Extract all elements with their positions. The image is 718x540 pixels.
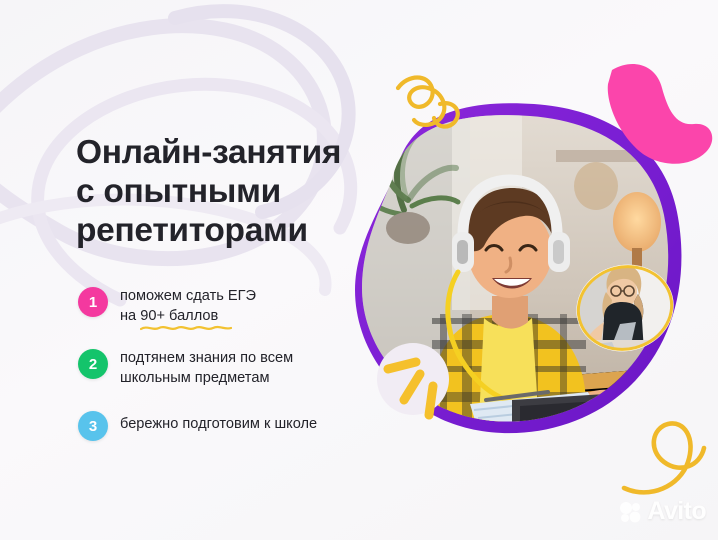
bullet-number-badge-3: 3 xyxy=(78,411,108,441)
bullet-number-badge-1: 1 xyxy=(78,287,108,317)
tutor-inset-photo xyxy=(567,254,683,361)
bullet-1-line-1: поможем сдать ЕГЭ xyxy=(120,287,398,307)
highlighted-score: 90+ баллов xyxy=(140,307,218,327)
avito-wordmark: Avito xyxy=(647,497,706,526)
wavy-underline-icon xyxy=(140,325,232,331)
bullet-2-line-2: школьным предметам xyxy=(120,369,398,389)
foreground-decorations xyxy=(0,0,718,540)
page-title: Онлайн-занятия с опытными репетиторами xyxy=(76,133,376,250)
lamp xyxy=(613,192,661,272)
bullet-text-1: поможем сдать ЕГЭ на 90+ баллов xyxy=(120,285,398,326)
highlight-text: 90+ баллов xyxy=(140,308,218,324)
boy-figure xyxy=(432,180,650,442)
headline-line-2: с опытными xyxy=(76,172,376,211)
bullet-1-line-2: на 90+ баллов xyxy=(120,307,398,327)
yellow-squiggle-top xyxy=(398,78,458,127)
bullet-text-3: бережно подготовим к школе xyxy=(120,409,398,435)
list-item: 2 подтянем знания по всем школьным предм… xyxy=(78,347,398,393)
headline-line-3: репетиторами xyxy=(76,211,376,250)
student-photo xyxy=(0,0,718,540)
bullet-3-line-1: бережно подготовим к школе xyxy=(120,415,398,435)
yellow-curl-bottom xyxy=(624,423,704,492)
background-swirls xyxy=(0,0,718,540)
bullet-2-line-1: подтянем знания по всем xyxy=(120,349,398,369)
benefits-list: 1 поможем сдать ЕГЭ на 90+ баллов 2 подт… xyxy=(78,285,398,455)
bullet-1-prefix: на xyxy=(120,308,140,324)
photo-content xyxy=(350,100,690,460)
bullet-text-2: подтянем знания по всем школьным предмет… xyxy=(120,347,398,388)
banner-canvas: Онлайн-занятия с опытными репетиторами 1… xyxy=(0,0,718,540)
list-item: 1 поможем сдать ЕГЭ на 90+ баллов xyxy=(78,285,398,331)
headline-line-1: Онлайн-занятия xyxy=(76,133,376,172)
bullet-number-badge-2: 2 xyxy=(78,349,108,379)
avito-dots-icon xyxy=(618,500,642,524)
avito-watermark: Avito xyxy=(618,497,706,526)
list-item: 3 бережно подготовим к школе xyxy=(78,409,398,455)
pink-crescent-shape xyxy=(608,64,712,164)
